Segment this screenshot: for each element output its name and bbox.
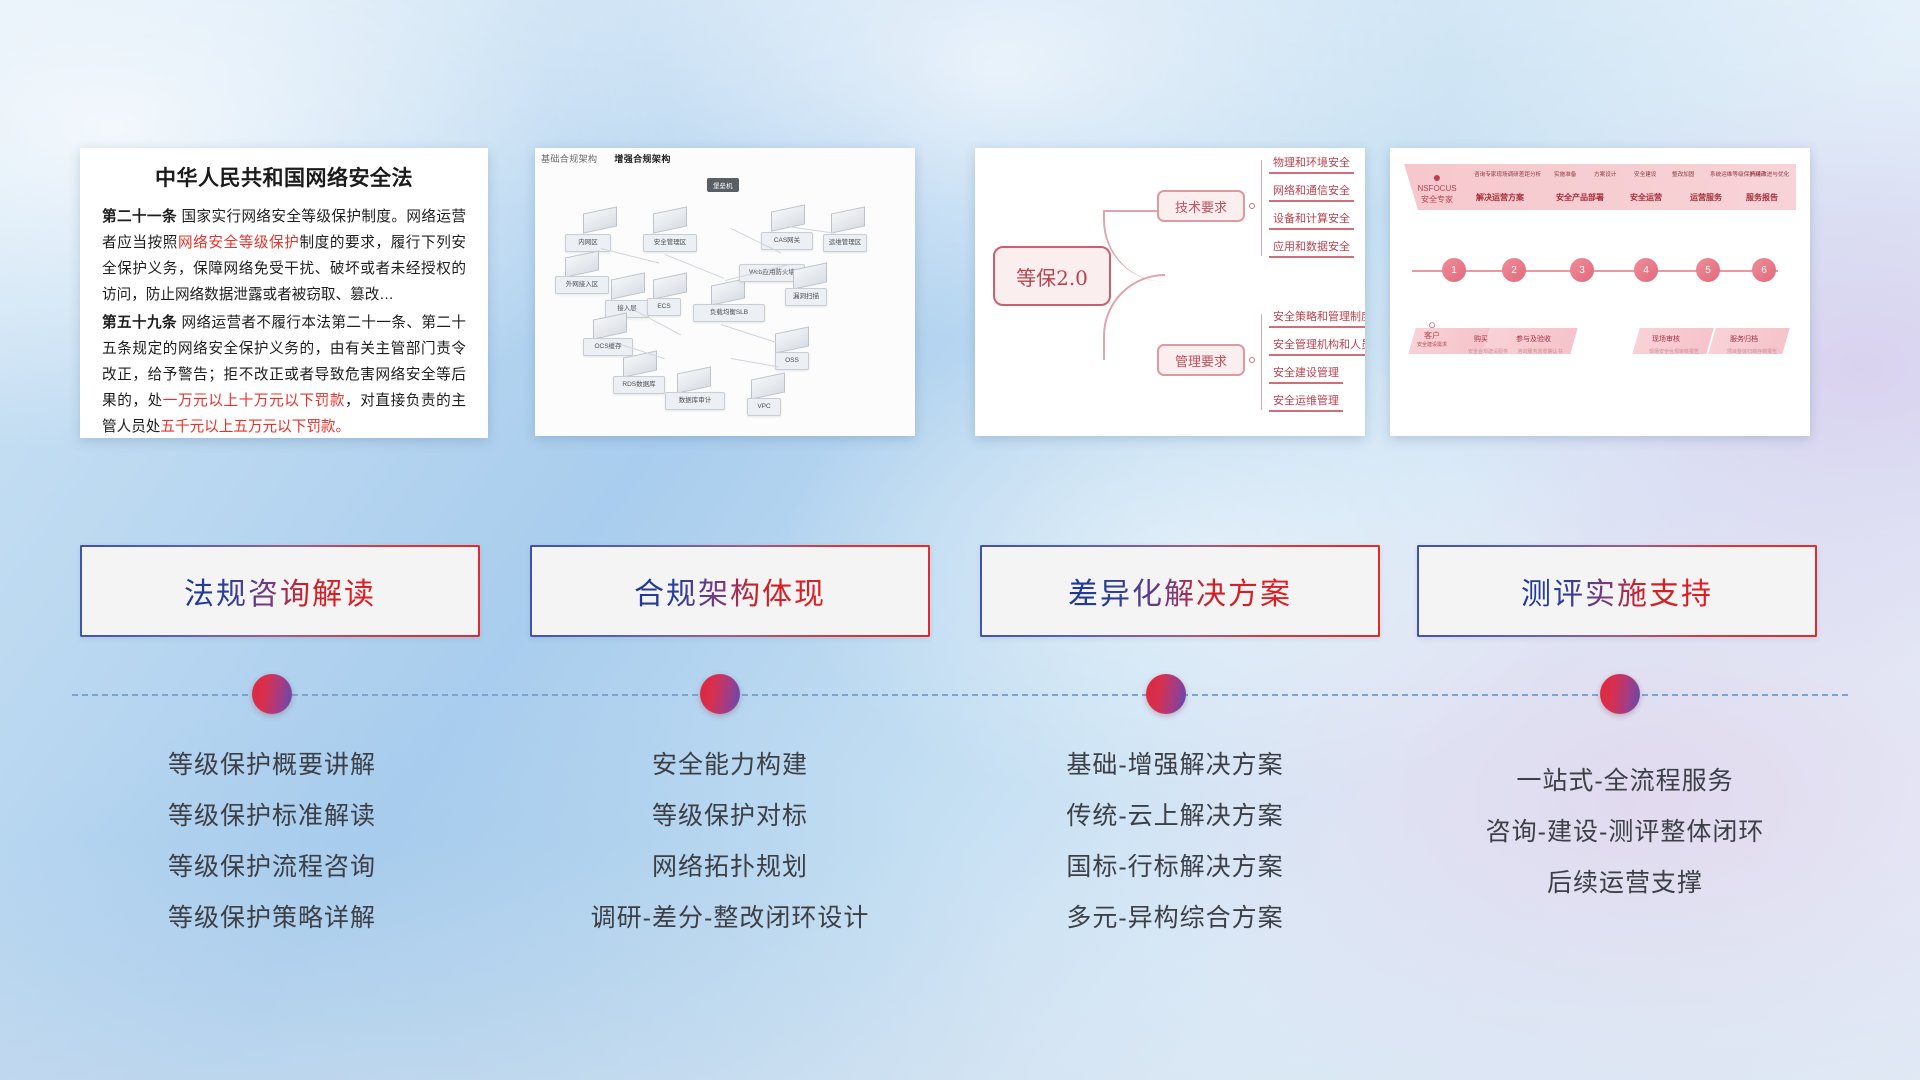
mindmap-leaf: 应用和数据安全 [1269,238,1354,258]
law-article-label: 第二十一条 [102,209,177,225]
list-item: 咨询-建设-测评整体闭环 [1415,807,1835,858]
node-label: OSS [775,352,809,370]
roadmap-action-sub: 咨询服务验收确认书 [1492,348,1588,355]
mindmap-root: 等保2.0 [993,246,1111,306]
roadmap-phase-label: 解决运营方案 [1476,192,1524,203]
label-boxes-row: 法规咨询解读 合规架构体现 差异化解决方案 测评实施支持 [0,545,1920,645]
column-regulation-consulting: 等级保护概要讲解 等级保护标准解读 等级保护流程咨询 等级保护策略详解 [72,740,472,944]
roadmap-step: 6 [1752,258,1776,282]
list-item: 等级保护策略详解 [72,893,472,944]
mindmap-toggle-icon[interactable] [1249,203,1255,209]
timeline-dot[interactable] [1600,674,1640,714]
roadmap-action: 现场审核 [1652,334,1680,344]
nsfocus-roadmap-card: ● NSFOCUS 安全专家 咨询专家现场调研差距分析 实施准备 方案设计 安全… [1390,148,1810,436]
node-label: VPC [747,398,781,416]
law-text-highlight: 网络安全等级保护 [178,235,300,251]
roadmap-action: 购买 [1474,334,1488,344]
compliance-architecture-card: 基础合规架构 增强合规架构 堡垒机 内网区 外网接入区 安全管理区 接入层 CA… [535,148,915,436]
detail-columns: 等级保护概要讲解 等级保护标准解读 等级保护流程咨询 等级保护策略详解 安全能力… [0,740,1920,960]
timeline-dot[interactable] [1146,674,1186,714]
law-text-highlight: 一万元以上十万元以下罚款 [163,393,345,409]
mindmap-leaf: 网络和通信安全 [1269,182,1354,202]
timeline-dot[interactable] [700,674,740,714]
nsfocus-logo: ● NSFOCUS 安全专家 [1408,166,1466,208]
law-paragraph-21: 第二十一条 国家实行网络安全等级保护制度。网络运营者应当按照网络安全等级保护制度… [102,204,466,308]
label-regulation-consulting[interactable]: 法规咨询解读 [80,545,480,637]
roadmap-action-sub: 项目整体归档存档报告 [1702,348,1802,355]
mindmap-leaf: 安全管理机构和人员 [1269,336,1365,356]
label-compliance-architecture[interactable]: 合规架构体现 [530,545,930,637]
list-item: 传统-云上解决方案 [975,791,1375,842]
roadmap-step: 3 [1570,258,1594,282]
cybersecurity-law-card: 中华人民共和国网络安全法 第二十一条 国家实行网络安全等级保护制度。网络运营者应… [80,148,488,438]
list-item: 调研-差分-整改闭环设计 [530,893,930,944]
roadmap-header-item: 整改加固 [1672,170,1694,178]
dengbao-mindmap-card: 等保2.0 技术要求 物理和环境安全 网络和通信安全 设备和计算安全 应用和数据… [975,148,1365,436]
timeline-dot[interactable] [252,674,292,714]
label-text: 差异化解决方案 [1068,569,1292,613]
list-item: 一站式-全流程服务 [1415,756,1835,807]
roadmap-action: 服务归档 [1730,334,1758,344]
roadmap-step: 4 [1634,258,1658,282]
law-article-label: 第五十九条 [102,315,177,331]
roadmap-step: 5 [1696,258,1720,282]
column-compliance-architecture: 安全能力构建 等级保护对标 网络拓扑规划 调研-差分-整改闭环设计 [530,740,930,944]
list-item: 基础-增强解决方案 [975,740,1375,791]
column-assessment-support: 一站式-全流程服务 咨询-建设-测评整体闭环 后续运营支撑 [1415,756,1835,909]
label-text: 法规咨询解读 [184,569,376,613]
node-label: 安全管理区 [643,234,697,252]
nsfocus-brand: NSFOCUS [1408,184,1466,195]
node-label: RDS数据库 [613,376,665,394]
roadmap-phase-label: 服务报告 [1746,192,1778,203]
node-label: 运维管理区 [823,234,867,252]
roadmap-step: 1 [1442,258,1466,282]
list-item: 后续运营支撑 [1415,858,1835,909]
timeline-dashed-line [72,694,1848,696]
label-differentiated-solution[interactable]: 差异化解决方案 [980,545,1380,637]
roadmap-phase-label: 安全运营 [1630,192,1662,203]
node-label: 外网接入区 [555,276,609,294]
roadmap-step: 2 [1502,258,1526,282]
roadmap-customer-label: 客户 [1408,331,1456,342]
column-differentiated-solution: 基础-增强解决方案 传统-云上解决方案 国标-行标解决方案 多元-异构综合方案 [975,740,1375,944]
mindmap-toggle-icon[interactable] [1249,357,1255,363]
roadmap-header-item: 方案设计 [1594,170,1616,178]
mindmap-leaf: 安全运维管理 [1269,392,1343,412]
list-item: 网络拓扑规划 [530,842,930,893]
roadmap-action: 参与及验收 [1516,334,1551,344]
list-item: 等级保护流程咨询 [72,842,472,893]
roadmap-header-item: 安全建设 [1634,170,1656,178]
node-label: 漏洞扫描 [785,288,827,306]
label-text: 测评实施支持 [1521,569,1713,613]
roadmap-phase-label: 安全产品部署 [1556,192,1604,203]
mindmap-leaf: 物理和环境安全 [1269,154,1354,174]
law-title: 中华人民共和国网络安全法 [102,162,466,192]
mindmap-branch-technical: 技术要求 [1157,190,1245,222]
node-label: ECS [647,298,681,316]
tab-enhanced-architecture[interactable]: 增强合规架构 [614,154,670,164]
architecture-tabs: 基础合规架构 增强合规架构 [541,152,685,165]
screenshot-cards-row: 中华人民共和国网络安全法 第二十一条 国家实行网络安全等级保护制度。网络运营者应… [0,148,1920,448]
node-label: 数据库审计 [665,392,725,410]
bastion-host-chip: 堡垒机 [707,178,739,192]
timeline [0,672,1920,718]
mindmap-branch-management: 管理要求 [1157,344,1245,376]
list-item: 多元-异构综合方案 [975,893,1375,944]
tab-basic-architecture[interactable]: 基础合规架构 [541,154,597,164]
list-item: 等级保护概要讲解 [72,740,472,791]
law-paragraph-59: 第五十九条 网络运营者不履行本法第二十一条、第二十五条规定的网络安全保护义务的，… [102,310,466,438]
mindmap-leaf: 设备和计算安全 [1269,210,1354,230]
list-item: 安全能力构建 [530,740,930,791]
list-item: 等级保护标准解读 [72,791,472,842]
roadmap-header-item: 实施准备 [1554,170,1576,178]
label-assessment-support[interactable]: 测评实施支持 [1417,545,1817,637]
label-text: 合规架构体现 [634,569,826,613]
law-text-highlight: 五千元以上五万元以下罚款。 [160,419,350,435]
node-label: 负载均衡SLB [693,304,765,322]
mindmap-leaf: 安全建设管理 [1269,364,1343,384]
roadmap-customer-sub: 安全建设需求 [1408,342,1456,349]
node-label: OCS缓存 [583,338,633,356]
list-item: 国标-行标解决方案 [975,842,1375,893]
list-item: 等级保护对标 [530,791,930,842]
roadmap-header-item: 持续改进与优化 [1750,170,1789,178]
nsfocus-brand-sub: 安全专家 [1408,195,1466,206]
mindmap-leaf: 安全策略和管理制度 [1269,308,1365,328]
roadmap-header-item: 咨询专家现场调研差距分析 [1474,170,1541,178]
roadmap-phase-label: 运营服务 [1690,192,1722,203]
